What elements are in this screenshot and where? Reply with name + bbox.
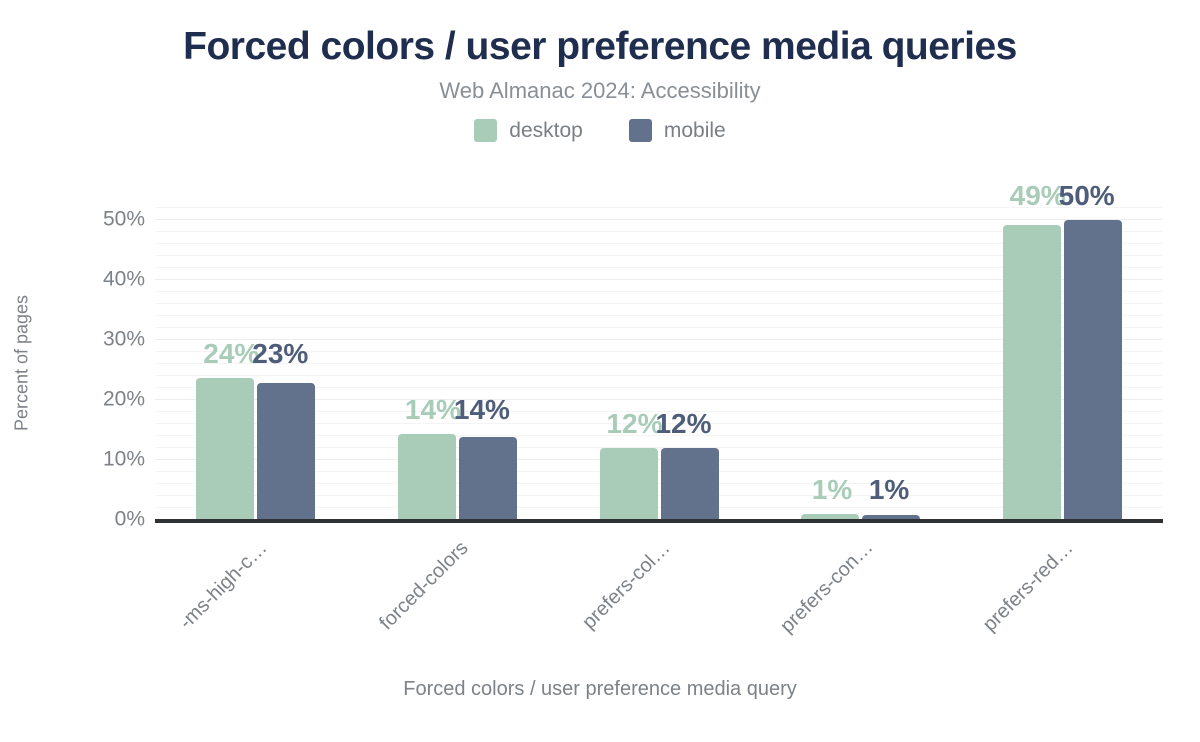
value-label-desktop-1: 14% [405,396,461,424]
value-label-mobile-4: 50% [1059,182,1115,210]
bar-desktop-2[interactable] [600,448,658,519]
gridline [155,483,1163,484]
bar-mobile-2[interactable] [661,448,719,519]
x-axis-title: Forced colors / user preference media qu… [0,678,1200,701]
gridline [155,507,1163,508]
gridline [155,303,1163,304]
gridline [155,231,1163,232]
bar-mobile-4[interactable] [1064,220,1122,519]
gridline [155,219,1163,220]
value-label-mobile-1: 14% [454,396,510,424]
bar-mobile-3[interactable] [862,515,920,519]
value-label-desktop-2: 12% [606,410,662,438]
x-axis-tick-label: prefers-red… [977,537,1078,638]
x-axis-tick-label: -ms-high-c… [171,537,272,638]
legend-swatch-desktop [474,119,497,142]
value-label-mobile-0: 23% [252,340,308,368]
gridline [155,351,1163,352]
gridline [155,363,1163,364]
x-axis-tick-label: prefers-con… [776,537,877,638]
y-axis-tick-label: 10% [25,449,145,470]
gridline [155,435,1163,436]
chart-legend: desktop mobile [0,119,1200,142]
legend-swatch-mobile [629,119,652,142]
value-label-desktop-3: 1% [812,476,852,504]
legend-item-mobile[interactable]: mobile [629,119,726,142]
bar-desktop-4[interactable] [1003,225,1061,519]
y-axis-title: Percent of pages [12,295,33,431]
gridline [155,327,1163,328]
chart-header: Forced colors / user preference media qu… [0,0,1200,142]
gridline [155,387,1163,388]
y-axis-tick-label: 20% [25,389,145,410]
x-axis-baseline [155,519,1163,523]
plot-area [155,207,1163,519]
gridline [155,267,1163,268]
value-label-desktop-0: 24% [203,340,259,368]
gridline [155,471,1163,472]
gridline [155,375,1163,376]
legend-item-desktop[interactable]: desktop [474,119,583,142]
gridline [155,411,1163,412]
bar-desktop-0[interactable] [196,378,254,519]
legend-label-desktop: desktop [509,120,583,141]
page-title: Forced colors / user preference media qu… [0,26,1200,69]
gridline [155,339,1163,340]
legend-label-mobile: mobile [664,120,726,141]
bar-desktop-3[interactable] [801,514,859,519]
gridline [155,207,1163,208]
gridline [155,279,1163,280]
y-axis-tick-label: 0% [25,509,145,530]
bar-mobile-1[interactable] [459,437,517,519]
gridline [155,447,1163,448]
x-axis-tick-label: prefers-col… [574,537,675,638]
gridline [155,315,1163,316]
gridline [155,291,1163,292]
y-axis-tick-label: 50% [25,209,145,230]
gridline [155,495,1163,496]
value-label-mobile-3: 1% [869,476,909,504]
gridline [155,423,1163,424]
chart-subtitle: Web Almanac 2024: Accessibility [0,79,1200,103]
y-axis-tick-label: 40% [25,269,145,290]
bar-desktop-1[interactable] [398,434,456,519]
value-label-mobile-2: 12% [655,410,711,438]
value-label-desktop-4: 49% [1010,182,1066,210]
x-axis-tick-label: forced-colors [373,537,474,638]
gridline [155,255,1163,256]
y-axis-tick-label: 30% [25,329,145,350]
gridline [155,459,1163,460]
bar-mobile-0[interactable] [257,383,315,519]
gridline [155,399,1163,400]
gridline [155,243,1163,244]
